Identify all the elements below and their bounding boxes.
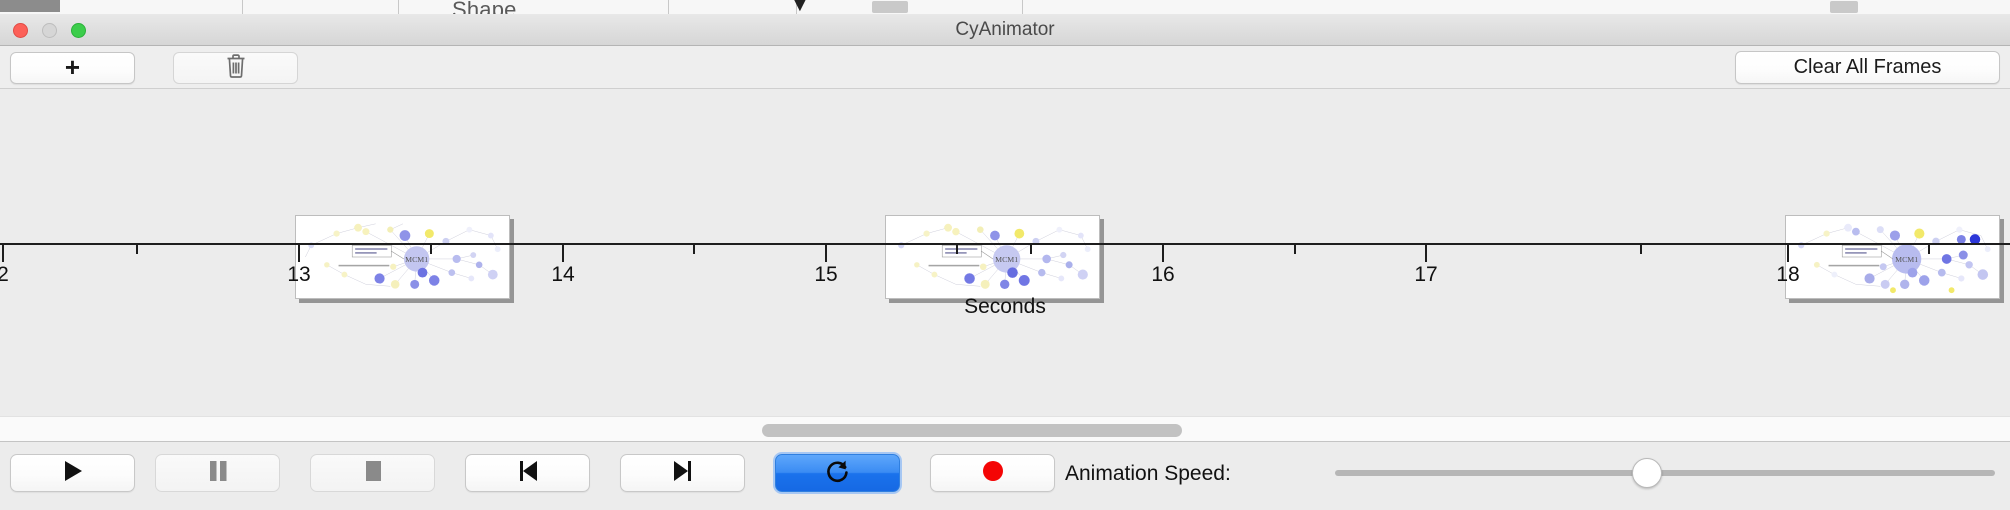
title-bar: CyAnimator: [0, 14, 2010, 46]
stop-button[interactable]: [310, 454, 435, 492]
ruler-tick-minor: [1928, 245, 1930, 254]
pause-button[interactable]: [155, 454, 280, 492]
ruler-tick-major: [1162, 245, 1164, 262]
ruler-tick-major: [825, 245, 827, 262]
animation-speed-slider[interactable]: [1335, 470, 1995, 476]
timeline-axis-title: Seconds: [0, 295, 2010, 319]
window-title: CyAnimator: [0, 14, 2010, 46]
ruler-label: 16: [1128, 263, 1198, 287]
cyanimator-window: ▼ Shape CyAnimator + Clear All: [0, 0, 2010, 510]
skip-end-icon: [672, 459, 694, 488]
ruler-label: 2: [0, 263, 38, 287]
ruler-tick-minor: [1294, 245, 1296, 254]
toolbar: + Clear All Frames: [0, 46, 2010, 89]
ruler-tick-major: [1425, 245, 1427, 262]
loop-icon: [825, 458, 851, 489]
record-icon: [981, 459, 1005, 488]
skip-start-button[interactable]: [465, 454, 590, 492]
svg-text:MCM1: MCM1: [1895, 255, 1918, 264]
skip-start-icon: [517, 459, 539, 488]
pause-icon: [207, 459, 229, 488]
timeline-scrollbar[interactable]: [0, 416, 2010, 442]
play-icon: [62, 459, 84, 488]
background-divider: [668, 0, 669, 14]
record-button[interactable]: [930, 454, 1055, 492]
ruler-label: 17: [1391, 263, 1461, 287]
animation-speed-label: Animation Speed:: [1065, 462, 1231, 486]
ruler-tick-major: [562, 245, 564, 262]
ruler-tick-minor: [1640, 245, 1642, 254]
animation-speed-slider-thumb[interactable]: [1632, 458, 1662, 488]
play-button[interactable]: [10, 454, 135, 492]
ruler-tick-major: [1787, 245, 1789, 262]
ruler-tick-major: [2, 245, 4, 262]
timeline-frame-thumbnail[interactable]: MCM1: [885, 215, 1100, 299]
svg-text:MCM1: MCM1: [405, 255, 428, 264]
plus-icon: +: [65, 54, 80, 80]
timeline-ruler-line: [0, 243, 2010, 245]
background-divider: [242, 0, 243, 14]
ruler-label: 18: [1753, 263, 1823, 287]
background-dark-block: [0, 0, 60, 12]
background-divider: [398, 0, 399, 14]
svg-text:MCM1: MCM1: [995, 255, 1018, 264]
background-scroll-nub: [872, 1, 908, 13]
ruler-tick-minor: [956, 245, 958, 254]
transport-bar: Animation Speed:: [0, 442, 2010, 510]
trash-icon: [225, 53, 247, 84]
timeline-panel[interactable]: MCM1: [0, 89, 2010, 416]
delete-frame-button[interactable]: [173, 52, 298, 84]
skip-end-button[interactable]: [620, 454, 745, 492]
ruler-label: 13: [264, 263, 334, 287]
ruler-label: 15: [791, 263, 861, 287]
loop-button[interactable]: [775, 454, 900, 492]
stop-icon: [362, 459, 384, 488]
ruler-tick-minor: [693, 245, 695, 254]
clear-all-frames-button[interactable]: Clear All Frames: [1735, 51, 2000, 84]
network-graph-preview: MCM1: [886, 216, 1099, 298]
clear-all-frames-label: Clear All Frames: [1794, 56, 1942, 79]
ruler-tick-minor: [1030, 245, 1032, 254]
ruler-tick-minor: [136, 245, 138, 254]
ruler-label: 14: [528, 263, 598, 287]
timeline-scrollbar-thumb[interactable]: [762, 424, 1182, 437]
add-frame-button[interactable]: +: [10, 52, 135, 84]
background-app-strip: ▼ Shape: [0, 0, 2010, 15]
ruler-tick-major: [298, 245, 300, 262]
background-scroll-nub: [1830, 1, 1858, 13]
background-divider: [1022, 0, 1023, 14]
ruler-tick-minor: [430, 245, 432, 254]
